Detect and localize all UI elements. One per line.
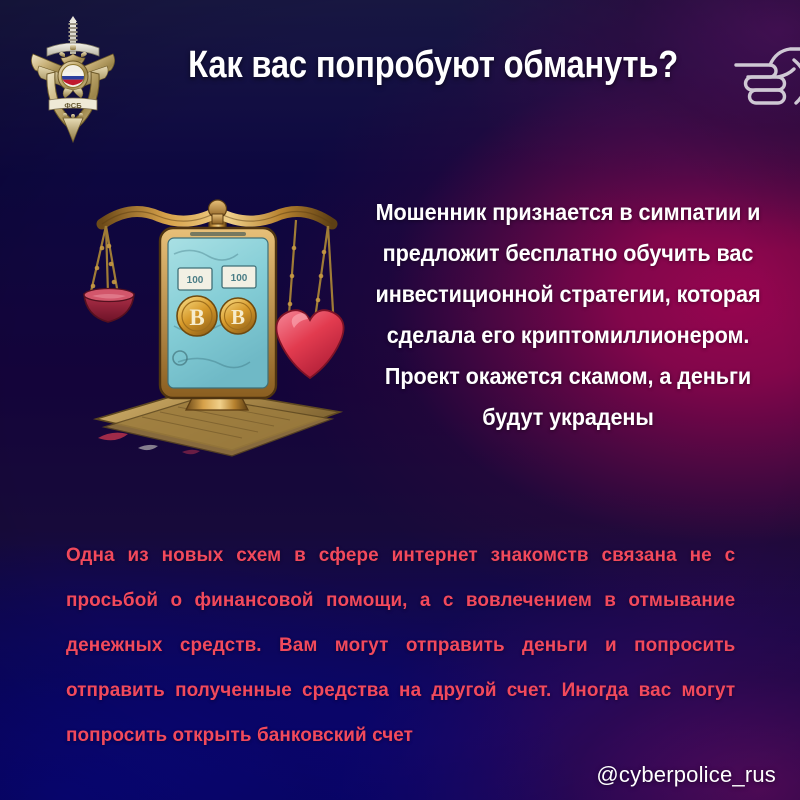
poster-header: ФСБ Как вас попробуют обмануть? [0,0,800,160]
justice-scales-smartphone-bitcoin-heart-illustration: 100 100 B B [82,176,352,466]
pink-paragraph-line: попросить открыть банковский счет [66,713,735,758]
svg-text:100: 100 [187,275,204,286]
social-handle: @cyberpolice_rus [596,762,776,788]
pink-paragraph-line: просьбойофинансовойпомощи,асвовлечениемв… [66,578,735,623]
pink-paragraph-line: денежныхсредств.Ваммогутотправитьденьгии… [66,623,735,668]
white-paragraph-line: Проект окажется скамом, а деньги [369,356,766,397]
svg-text:B: B [231,305,245,329]
white-paragraph-line: инвестиционной стратегии, которая [369,274,766,315]
white-paragraph-line: предложит бесплатно обучить вас [369,233,766,274]
pointing-hand-left-icon [722,38,800,110]
svg-text:B: B [189,305,204,330]
pink-paragraph-line: отправитьполученныесредстванадругойсчет.… [66,668,735,713]
svg-text:100: 100 [231,273,248,284]
fsb-emblem-banner-text: ФСБ [64,101,82,110]
fsb-emblem-icon: ФСБ [27,14,119,144]
white-paragraph-line: будут украдены [369,397,766,438]
pink-paragraph: Однаизновыхсхемвсфереинтернетзнакомствсв… [66,533,735,758]
page-title: Как вас попробуют обмануть? [188,42,657,88]
white-paragraph-line: Мошенник признается в симпатии и [369,192,766,233]
pink-paragraph-line: Однаизновыхсхемвсфереинтернетзнакомствсв… [66,533,735,578]
poster-canvas: ФСБ Как вас попробуют обмануть? [0,0,800,800]
white-paragraph: Мошенник признается в симпатии и предлож… [369,192,766,438]
white-paragraph-line: сделала его криптомиллионером. [369,315,766,356]
